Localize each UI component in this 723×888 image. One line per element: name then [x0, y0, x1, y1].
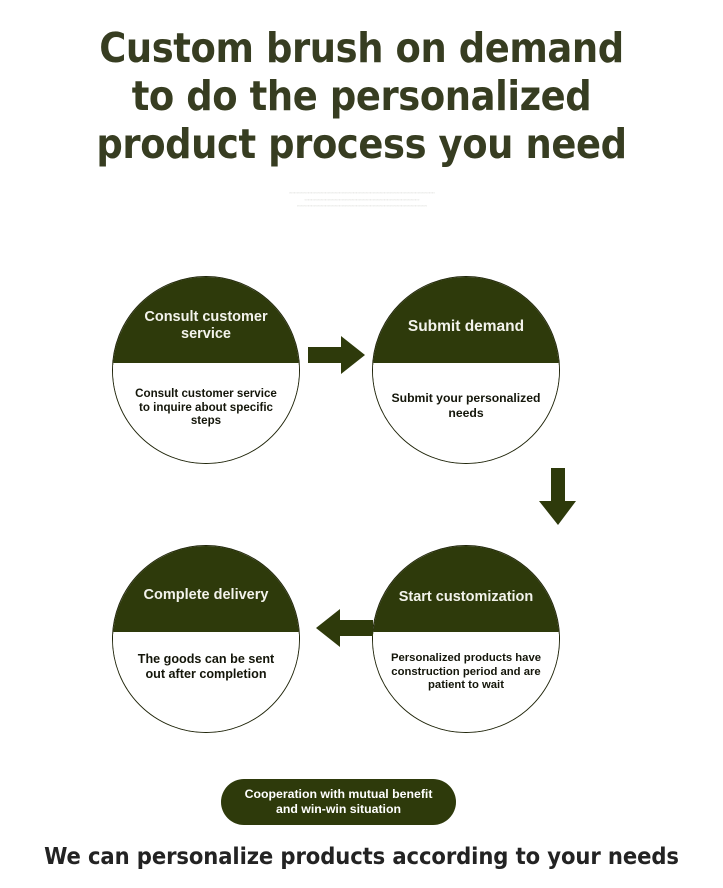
flow-step-submit-description: Submit your personalized needs — [389, 391, 543, 420]
flow-step-start-customization-header: Start customization — [372, 545, 560, 632]
flow-step-submit-body: Submit your personalized needs — [373, 365, 559, 463]
flow-step-submit: Submit demand Submit your personalized n… — [372, 276, 560, 464]
flow-step-complete-delivery: Complete delivery The goods can be sent … — [112, 545, 300, 733]
cooperation-pill-label: Cooperation with mutual benefit and win-… — [235, 787, 442, 817]
flow-step-start-customization-title: Start customization — [399, 589, 534, 606]
flow-step-start-customization-description: Personalized products have construction … — [389, 652, 543, 693]
flow-step-consult-header: Consult customer service — [112, 276, 300, 363]
microcopy-line-2: ▫▫▫▫▫▫▫▫▫▫▫▫▫▫▫▫▫▫▫▫▫▫▫▫▫▫▫▫▫▫▫▫▫▫▫▫▫▫▫▫… — [173, 197, 551, 204]
footer-statement: We can personalize products according to… — [0, 841, 723, 871]
flow-step-submit-title: Submit demand — [408, 318, 524, 336]
flow-step-start-customization-body: Personalized products have construction … — [373, 634, 559, 732]
arrow-down-icon — [538, 468, 578, 526]
flow-step-consult-title: Consult customer service — [127, 309, 285, 343]
flow-step-consult: Consult customer service Consult custome… — [112, 276, 300, 464]
page-title-line-2: to do the personalized — [0, 72, 723, 120]
flow-step-submit-header: Submit demand — [372, 276, 560, 363]
flow-step-complete-delivery-body: The goods can be sent out after completi… — [113, 634, 299, 732]
flow-step-complete-delivery-title: Complete delivery — [144, 587, 269, 604]
flow-step-consult-description: Consult customer service to inquire abou… — [129, 387, 283, 428]
flow-step-complete-delivery-description: The goods can be sent out after completi… — [129, 652, 283, 682]
flow-step-start-customization: Start customization Personalized product… — [372, 545, 560, 733]
page-title: Custom brush on demand to do the persona… — [0, 24, 723, 168]
flow-step-complete-delivery-header: Complete delivery — [112, 545, 300, 632]
arrow-right-icon — [308, 335, 366, 375]
microcopy-line-3: ▫▫▫▫▫▫▫▫▫▫▫▫▫▫▫▫▫▫▫▫▫▫▫▫▫▫▫▫▫▫▫▫▫▫▫▫▫▫▫▫… — [173, 203, 551, 210]
flow-step-consult-body: Consult customer service to inquire abou… — [113, 365, 299, 463]
cooperation-pill-badge: Cooperation with mutual benefit and win-… — [221, 779, 456, 825]
arrow-left-icon — [316, 608, 374, 648]
microcopy-block: ▫▫▫▫▫▫▫▫▫▫▫▫▫▫▫▫▫▫▫▫▫▫▫▫▫▫▫▫▫▫▫▫▫▫▫▫▫▫▫▫… — [173, 190, 551, 210]
page-title-line-1: Custom brush on demand — [0, 24, 723, 72]
microcopy-line-1: ▫▫▫▫▫▫▫▫▫▫▫▫▫▫▫▫▫▫▫▫▫▫▫▫▫▫▫▫▫▫▫▫▫▫▫▫▫▫▫▫… — [173, 190, 551, 197]
page-title-line-3: product process you need — [0, 120, 723, 168]
promo-infographic-page: Custom brush on demand to do the persona… — [0, 0, 723, 888]
